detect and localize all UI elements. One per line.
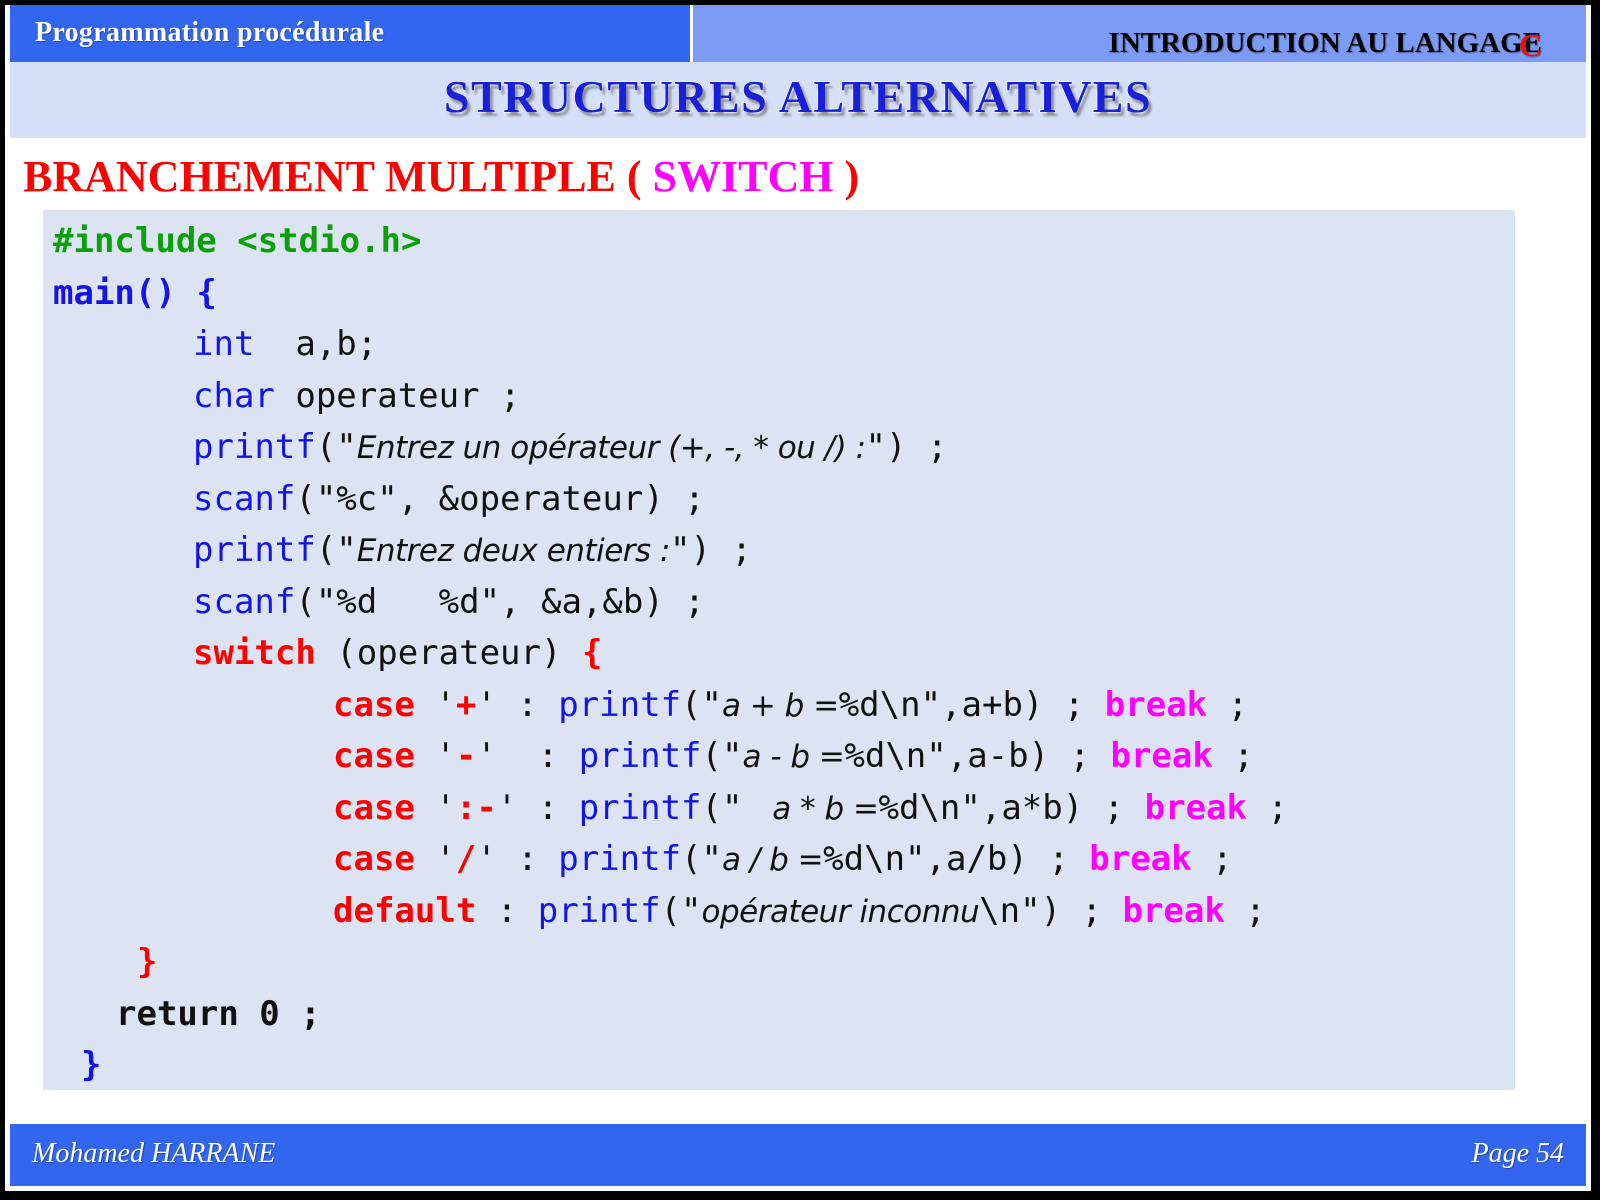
code-token: default [333,891,476,931]
code-line: case '+' : printf("a + b =%d\n",a+b) ; b… [53,680,1515,732]
code-token: (" [681,685,722,725]
code-token: break [1110,736,1212,776]
footer-page-number: Page 54 [1471,1138,1564,1170]
code-token: switch [193,633,316,673]
code-token: int [193,324,254,364]
code-token: ("%c", &operateur) ; [295,479,704,519]
code-token: scanf [193,582,295,622]
code-token: ; [1247,788,1288,828]
code-token: opérateur inconnu [702,894,980,930]
code-line: case '-' : printf("a - b =%d\n",a-b) ; b… [53,731,1515,783]
code-token: ; [1192,839,1233,879]
code-token: ; [1207,685,1248,725]
code-line: int a,b; [53,319,1515,371]
code-token: printf [538,891,661,931]
header-right-bar: INTRODUCTION AU LANGAGE C [693,5,1586,62]
code-token: : [476,891,537,931]
header-language-letter: C [1519,27,1542,64]
code-token: Entrez deux entiers : [357,533,670,569]
section-heading-keyword: SWITCH [653,152,834,201]
code-token: #include <stdio.h> [53,221,421,261]
code-token: printf [579,788,702,828]
code-token: } [137,942,157,982]
slide: Programmation procédurale INTRODUCTION A… [5,5,1591,1191]
footer-author: Mohamed HARRANE [32,1138,275,1170]
code-token: ") ; [866,427,948,467]
code-token: / [456,839,476,879]
slide-header: Programmation procédurale INTRODUCTION A… [5,5,1591,62]
code-token: char [193,376,275,416]
header-course-title: Programmation procédurale [35,17,384,49]
header-module-text: INTRODUCTION AU LANGAGE [1109,27,1542,60]
code-token: printf [193,427,316,467]
code-token: { [582,633,602,673]
section-heading: BRANCHEMENT MULTIPLE ( SWITCH ) [23,151,859,202]
code-line: return 0 ; [53,989,1515,1041]
section-heading-prefix: BRANCHEMENT MULTIPLE ( [23,152,653,201]
code-token: %d\n",a*b) ; [879,788,1145,828]
code-token: a - b = [742,739,844,775]
code-line: printf("Entrez un opérateur (+, -, * ou … [53,422,1515,474]
code-token: { [196,273,216,313]
code-line: main() { [53,268,1515,320]
code-token: case [333,839,415,879]
code-listing: #include <stdio.h>main() {int a,b;char o… [53,216,1515,1092]
code-token: ' [415,685,456,725]
code-token: printf [558,685,681,725]
code-token: Entrez un opérateur (+, -, * ou /) : [357,430,866,466]
code-line: } [53,1040,1515,1092]
code-token: a,b; [254,324,377,364]
code-token: case [333,685,415,725]
code-token: + [456,685,476,725]
code-token: case [333,788,415,828]
code-token: \n") ; [979,891,1122,931]
section-heading-suffix: ) [834,152,860,201]
code-token: break [1122,891,1224,931]
code-token: ; [1213,736,1254,776]
code-line: case '/' : printf("a / b =%d\n",a/b) ; b… [53,834,1515,886]
code-token: break [1105,685,1207,725]
code-token: ' : [476,685,558,725]
code-token: scanf [193,479,295,519]
code-token: %d\n",a/b) ; [823,839,1089,879]
code-line: switch (operateur) { [53,628,1515,680]
title-band: STRUCTURES ALTERNATIVES [10,62,1586,138]
code-token: ' [415,736,456,776]
code-line: case ':-' : printf(" a * b =%d\n",a*b) ;… [53,783,1515,835]
code-token: ' [415,788,456,828]
code-token: ("%d %d", &a,&b) ; [295,582,704,622]
code-line: } [53,937,1515,989]
code-token: printf [579,736,702,776]
code-panel: #include <stdio.h>main() {int a,b;char o… [43,210,1515,1090]
code-token: return 0 ; [116,994,321,1034]
code-token: (" [316,427,357,467]
code-token: %d\n",a+b) ; [839,685,1105,725]
code-token: ; [1225,891,1266,931]
code-token: a / b = [722,842,823,878]
code-line: scanf("%d %d", &a,&b) ; [53,577,1515,629]
code-token: (" [316,530,357,570]
code-token: (" [702,736,743,776]
code-token: break [1089,839,1191,879]
code-token: ' : [476,736,578,776]
code-line: char operateur ; [53,371,1515,423]
code-token: } [81,1045,101,1085]
code-token: a * b = [763,791,879,827]
code-token: operateur ; [275,376,521,416]
code-token: (" [681,839,722,879]
code-token: ' [415,839,456,879]
code-token: break [1145,788,1247,828]
code-line: default : printf("opérateur inconnu\n") … [53,886,1515,938]
header-left-bar: Programmation procédurale [10,5,690,62]
code-line: printf("Entrez deux entiers :") ; [53,525,1515,577]
code-token: a + b = [722,688,839,724]
code-token: - [456,736,476,776]
slide-footer: Mohamed HARRANE Page 54 [10,1124,1586,1186]
code-token [176,273,196,313]
code-token: case [333,736,415,776]
code-token: %d\n",a-b) ; [844,736,1110,776]
slide-title: STRUCTURES ALTERNATIVES [10,70,1586,123]
code-token: (operateur) [316,633,582,673]
code-token: printf [193,530,316,570]
code-token: ' : [497,788,579,828]
code-token: main() [53,273,176,313]
code-token: ' : [476,839,558,879]
code-token: :- [456,788,497,828]
code-token: ") ; [670,530,752,570]
code-token: (" [702,788,763,828]
code-token: printf [558,839,681,879]
code-token: (" [661,891,702,931]
code-line: #include <stdio.h> [53,216,1515,268]
code-line: scanf("%c", &operateur) ; [53,474,1515,526]
